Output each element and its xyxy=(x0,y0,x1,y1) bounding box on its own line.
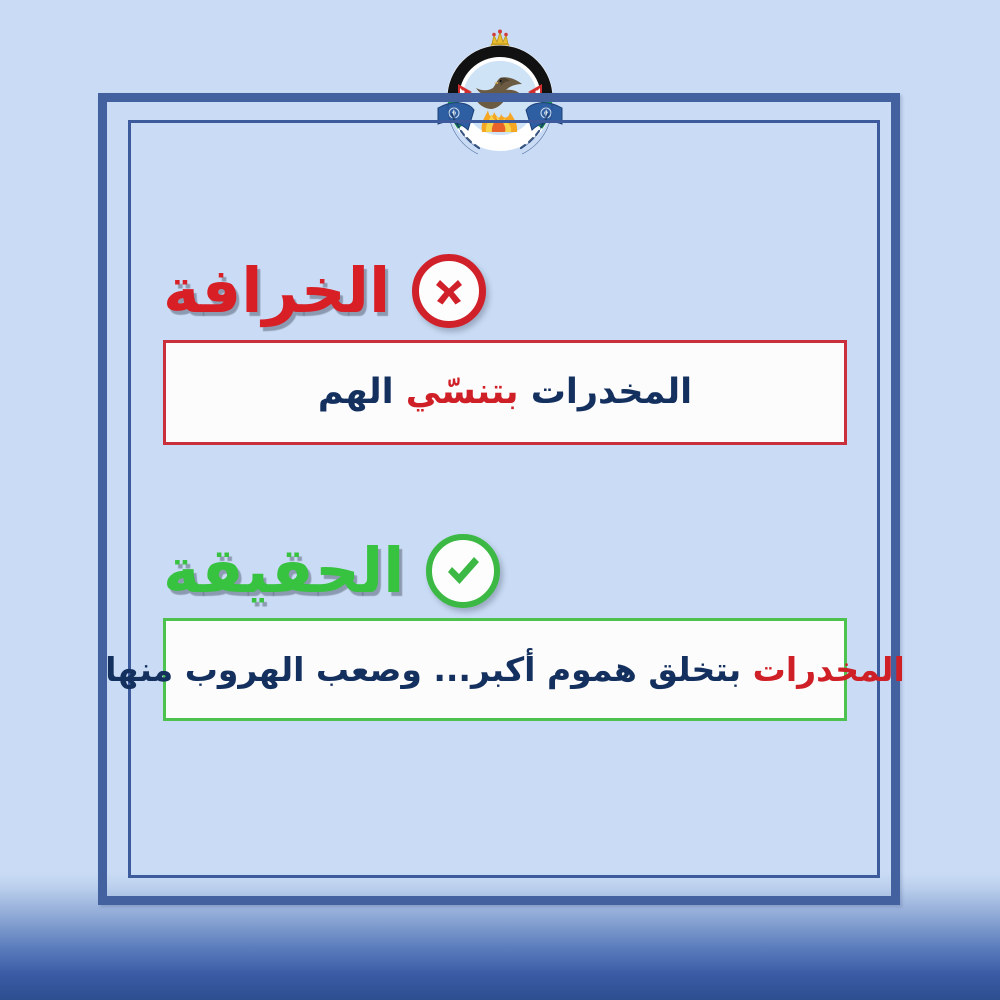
truth-statement-part-2: بتخلق هموم أكبر... وصعب الهروب منها xyxy=(105,650,753,689)
myth-statement-box: المخدرات بتنسّي الهم xyxy=(163,340,847,445)
truth-statement-box: المخدرات بتخلق هموم أكبر... وصعب الهروب … xyxy=(163,618,847,721)
myth-statement-part-1: المخدرات xyxy=(531,372,692,412)
truth-section: الحقيقة المخدرات بتخلق هموم أكبر... وصعب… xyxy=(163,528,847,721)
truth-heading-row: الحقيقة xyxy=(163,528,847,614)
decorative-inner-frame xyxy=(128,120,880,878)
poster-canvas: الخرافة المخدرات بتنسّي الهم الحقيقة الم… xyxy=(0,0,1000,1000)
myth-section: الخرافة المخدرات بتنسّي الهم xyxy=(163,248,847,445)
myth-statement-text: المخدرات بتنسّي الهم xyxy=(318,371,692,415)
circle-check-icon xyxy=(426,534,500,608)
truth-heading: الحقيقة xyxy=(163,540,404,602)
circle-x-icon xyxy=(412,254,486,328)
truth-statement-text: المخدرات بتخلق هموم أكبر... وصعب الهروب … xyxy=(105,649,905,690)
truth-statement-part-1: المخدرات xyxy=(753,650,905,689)
myth-heading: الخرافة xyxy=(163,260,390,322)
myth-statement-part-2: بتنسّي xyxy=(394,372,531,412)
myth-statement-part-3: الهم xyxy=(318,372,394,412)
myth-heading-row: الخرافة xyxy=(163,248,847,334)
